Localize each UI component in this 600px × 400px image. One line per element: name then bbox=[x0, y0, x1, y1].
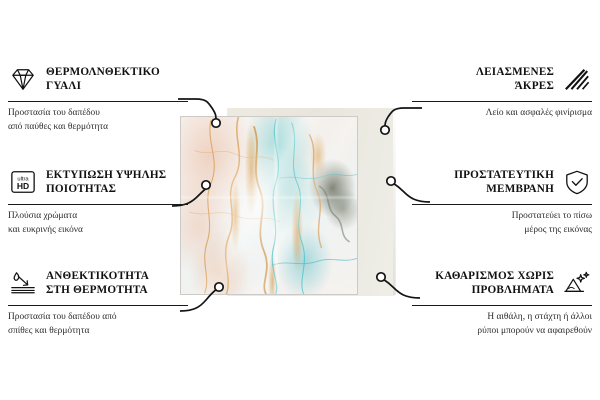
feature-title: ΘΕΡΜΟΛΝΘΕΚΤΙΚΟ ΓΥΑΛΙ bbox=[46, 65, 160, 94]
glass-panel-artwork bbox=[180, 116, 358, 295]
marble-ink-artwork bbox=[181, 117, 357, 294]
feature-description: Πλούσια χρώματα και ευκρινής εικόνα bbox=[8, 210, 188, 237]
feature-description: Προστασία του δαπέδου από σπίθες και θερ… bbox=[8, 311, 188, 338]
feature-description: Προστατεύει το πίσω μέρος της εικόνας bbox=[412, 210, 592, 237]
infographic-canvas: ΘΕΡΜΟΛΝΘΕΚΤΙΚΟ ΓΥΑΛΙ Προστασία του δαπέδ… bbox=[0, 0, 600, 400]
feature-heading: ultra HD ΕΚΤΥΠΩΣΗ ΥΨΗΛΗΣ ΠΟΙΟΤΗΤΑΣ bbox=[8, 165, 188, 199]
feature-description: Η αιθάλη, η στάχτη ή άλλοι ρύποι μπορούν… bbox=[412, 311, 592, 338]
diamond-icon bbox=[8, 66, 38, 92]
feature-title: ΚΑΘΑΡΙΣΜΟΣ ΧΩΡΙΣ ΠΡΟΒΛΗΜΑΤΑ bbox=[435, 269, 554, 298]
feature-protective-membrane: ΠΡΟΣΤΑΤΕΥΤΙΚΗ ΜΕΜΒΡΑΝΗ Προστατεύει το πί… bbox=[412, 165, 592, 237]
divider bbox=[8, 204, 188, 205]
feature-heading: ΚΑΘΑΡΙΣΜΟΣ ΧΩΡΙΣ ΠΡΟΒΛΗΜΑΤΑ bbox=[412, 266, 592, 300]
feature-title: ΑΝΘΕΚΤΙΚΟΤΗΤΑ ΣΤΗ ΘΕΡΜΟΤΗΤΑ bbox=[46, 269, 149, 298]
feature-heading: ΘΕΡΜΟΛΝΘΕΚΤΙΚΟ ΓΥΑΛΙ bbox=[8, 62, 188, 96]
shield-check-icon bbox=[562, 169, 592, 195]
feature-easy-cleaning: ΚΑΘΑΡΙΣΜΟΣ ΧΩΡΙΣ ΠΡΟΒΛΗΜΑΤΑ Η αιθάλη, η … bbox=[412, 266, 592, 338]
product-image bbox=[180, 110, 395, 295]
divider bbox=[412, 101, 592, 102]
feature-title: ΛΕΙΑΣΜΕΝΕΣ ΆΚΡΕΣ bbox=[476, 65, 554, 94]
feature-heat-resistant-glass: ΘΕΡΜΟΛΝΘΕΚΤΙΚΟ ΓΥΑΛΙ Προστασία του δαπέδ… bbox=[8, 62, 188, 134]
feature-heading: ΑΝΘΕΚΤΙΚΟΤΗΤΑ ΣΤΗ ΘΕΡΜΟΤΗΤΑ bbox=[8, 266, 188, 300]
feature-title: ΠΡΟΣΤΑΤΕΥΤΙΚΗ ΜΕΜΒΡΑΝΗ bbox=[454, 168, 554, 197]
easy-cleaning-icon bbox=[562, 270, 592, 296]
ultra-hd-icon: ultra HD bbox=[8, 169, 38, 195]
smooth-edges-icon bbox=[562, 66, 592, 92]
heat-resistance-icon bbox=[8, 270, 38, 296]
feature-heading: ΛΕΙΑΣΜΕΝΕΣ ΆΚΡΕΣ bbox=[412, 62, 592, 96]
feature-description: Λείο και ασφαλές φινίρισμα bbox=[412, 107, 592, 121]
divider bbox=[412, 305, 592, 306]
divider bbox=[8, 101, 188, 102]
feature-title: ΕΚΤΥΠΩΣΗ ΥΨΗΛΗΣ ΠΟΙΟΤΗΤΑΣ bbox=[46, 168, 166, 197]
feature-smooth-edges: ΛΕΙΑΣΜΕΝΕΣ ΆΚΡΕΣ Λείο και ασφαλές φινίρι… bbox=[412, 62, 592, 121]
feature-high-quality-print: ultra HD ΕΚΤΥΠΩΣΗ ΥΨΗΛΗΣ ΠΟΙΟΤΗΤΑΣ Πλούσ… bbox=[8, 165, 188, 237]
svg-text:HD: HD bbox=[17, 181, 29, 191]
feature-heading: ΠΡΟΣΤΑΤΕΥΤΙΚΗ ΜΕΜΒΡΑΝΗ bbox=[412, 165, 592, 199]
feature-description: Προστασία του δαπέδου από παύθες και θερ… bbox=[8, 107, 188, 134]
divider bbox=[412, 204, 592, 205]
feature-heat-durability: ΑΝΘΕΚΤΙΚΟΤΗΤΑ ΣΤΗ ΘΕΡΜΟΤΗΤΑ Προστασία το… bbox=[8, 266, 188, 338]
divider bbox=[8, 305, 188, 306]
